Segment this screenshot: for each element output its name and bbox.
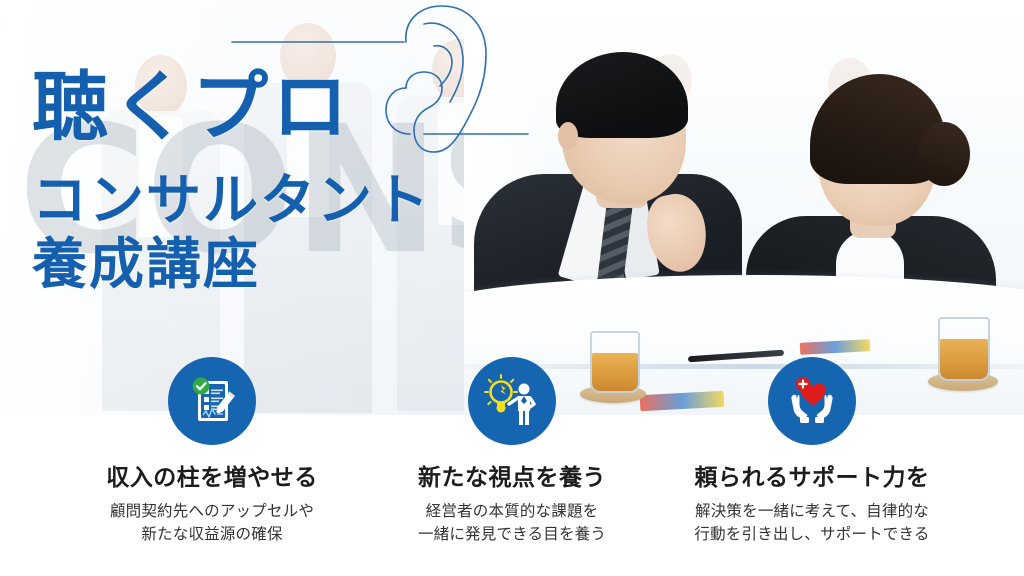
feature-desc-line: 経営者の本質的な課題を xyxy=(362,500,662,524)
hero-banner: CONSULTATION xyxy=(0,0,1024,576)
lightbulb-idea-person-icon xyxy=(468,357,556,445)
feature-item-income: 収入の柱を増やせる 顧問契約先へのアップセルや 新たな収益源の確保 xyxy=(62,415,362,547)
page-title: 聴くプロ コンサルタント 養成講座 xyxy=(32,68,431,297)
tea-glass xyxy=(590,331,640,393)
feature-desc-line: 新たな収益源の確保 xyxy=(62,523,362,547)
feature-description: 顧問契約先へのアップセルや 新たな収益源の確保 xyxy=(62,500,362,547)
hero-photo-band: CONSULTATION xyxy=(0,0,1024,415)
feature-desc-line: 顧問契約先へのアップセルや xyxy=(62,500,362,524)
feature-desc-line: 一緒に発見できる目を養う xyxy=(362,523,662,547)
feature-item-perspective: 新たな視点を養う 経営者の本質的な課題を 一緒に発見できる目を養う xyxy=(362,415,662,547)
feature-list: 収入の柱を増やせる 顧問契約先へのアップセルや 新たな収益源の確保 xyxy=(0,415,1024,576)
feature-title: 新たな視点を養う xyxy=(362,465,662,493)
feature-description: 解決策を一緒に考えて、自律的な 行動を引き出し、サポートできる xyxy=(662,500,962,547)
clipboard-checklist-icon xyxy=(168,357,256,445)
feature-title: 頼られるサポート力を xyxy=(662,465,962,493)
feature-item-support: 頼られるサポート力を 解決策を一緒に考えて、自律的な 行動を引き出し、サポートで… xyxy=(662,415,962,547)
headline-line-1: 聴くプロ xyxy=(32,68,431,146)
feature-desc-line: 解決策を一緒に考えて、自律的な xyxy=(662,500,962,524)
feature-desc-line: 行動を引き出し、サポートできる xyxy=(662,523,962,547)
hands-holding-heart-icon xyxy=(768,357,856,445)
headline-line-2: コンサルタント xyxy=(32,168,431,233)
feature-title: 収入の柱を増やせる xyxy=(62,465,362,493)
feature-description: 経営者の本質的な課題を 一緒に発見できる目を養う xyxy=(362,500,662,547)
headline-line-3: 養成講座 xyxy=(32,232,431,297)
tea-glass xyxy=(938,317,990,381)
